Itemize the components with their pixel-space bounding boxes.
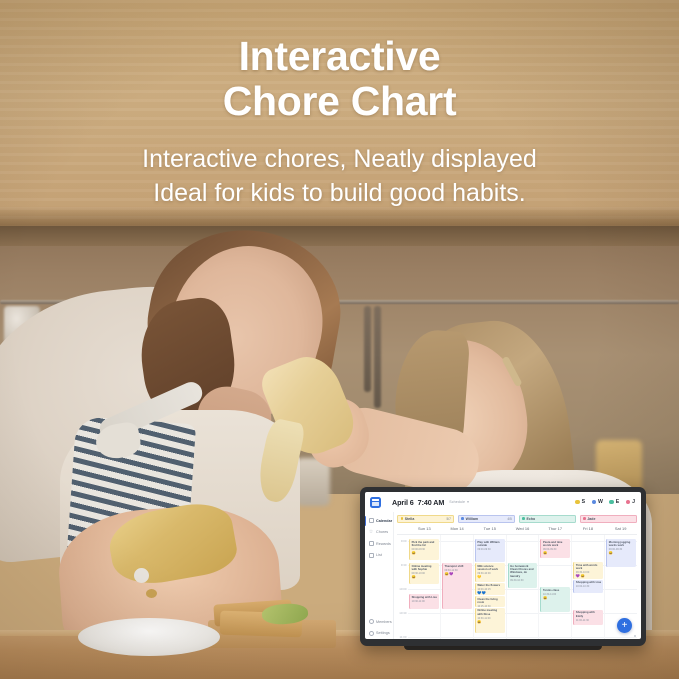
time-label: 11:00 xyxy=(399,635,406,639)
time-label: 9:00 xyxy=(401,539,407,543)
time-label: 10:30 xyxy=(399,611,406,615)
event-title: Pasta and time words work xyxy=(543,541,569,548)
event-emoji: 💙💙 xyxy=(477,592,503,595)
sidebar-item-label: Rewards xyxy=(376,542,391,546)
event-emoji: 💜😀 xyxy=(576,575,602,578)
day-header-row: Sun 13Mon 14Tue 15Wed 16Thur 17Fri 18Sat… xyxy=(397,523,637,534)
member-chip-j[interactable]: J xyxy=(626,499,635,505)
ring xyxy=(146,589,157,598)
calendar-event[interactable]: Therapist shift09:30-11:30😀💜 xyxy=(442,563,472,609)
calendar-app-icon[interactable] xyxy=(370,497,381,508)
member-initial: E xyxy=(616,499,619,505)
calendar-event[interactable]: Shopping with Emily11:00-11:30 xyxy=(573,610,603,626)
member-name: Stella xyxy=(405,517,415,521)
event-emoji: 😀 xyxy=(543,552,569,555)
event-title: Therapist shift xyxy=(444,565,470,568)
scroll-indicator[interactable] xyxy=(634,635,636,637)
sidebar-item-label: Calendar xyxy=(376,519,392,523)
member-color-dot xyxy=(626,500,631,505)
headline: Interactive Chore Chart xyxy=(0,36,679,123)
sidebar-item-list[interactable]: List xyxy=(365,550,393,562)
gift-icon xyxy=(369,541,374,546)
member-column-william[interactable]: William4/5 xyxy=(458,515,515,524)
calendar-event[interactable]: Pick the park and find the lid09:00-09:3… xyxy=(409,539,439,560)
calendar-event[interactable]: Play with William outside09:00-09:30 xyxy=(475,539,505,562)
calendar-event[interactable]: Online meeting with Sophie09:30-10:00😀 xyxy=(409,563,439,584)
sidebar-spacer xyxy=(365,561,393,616)
event-title: Pick the park and find the lid xyxy=(412,541,438,548)
calendar-event[interactable]: Clean the living room10:15-10:30 xyxy=(475,596,505,606)
calendar-event[interactable]: Online meeting with Rose10:30-11:00😀 xyxy=(475,608,505,633)
event-title: Milk science session of work xyxy=(477,565,503,572)
subheadline-line-1: Interactive chores, Neatly displayed xyxy=(0,142,679,176)
member-name: William xyxy=(466,517,479,521)
event-emoji: 💛 xyxy=(477,576,503,579)
day-column[interactable]: Therapist shift09:30-11:30😀💜 xyxy=(441,535,474,639)
member-chips: SWEJ xyxy=(575,499,635,505)
member-name: Jade xyxy=(587,517,595,521)
event-title: Play with William outside xyxy=(477,541,503,548)
member-color-dot xyxy=(609,500,614,505)
day-column[interactable]: Go homework Clean Chores and Windows, do… xyxy=(507,535,540,639)
member-column-echo[interactable]: Echo xyxy=(519,515,576,524)
day-header[interactable]: Thur 17 xyxy=(539,526,572,531)
sidebar-item-rewards[interactable]: Rewards xyxy=(365,538,393,550)
calendar-event[interactable]: Water the flowers10:00-10:15💙💙 xyxy=(475,583,505,595)
member-color-dot xyxy=(522,517,525,520)
tablet-device: April 6 7:40 AM Schedule ▾ SWEJ Calendar… xyxy=(360,487,646,646)
chevron-down-icon[interactable]: ▾ xyxy=(467,500,469,504)
event-emoji: 😀 xyxy=(412,576,438,579)
event-title: Shopping with Lisa xyxy=(576,581,602,584)
calendar-event[interactable]: Tennis class10:30-11:00😀 xyxy=(540,587,570,612)
member-initial: J xyxy=(632,499,635,505)
member-chip-w[interactable]: W xyxy=(592,499,603,505)
day-column[interactable]: Pick the park and find the lid09:00-09:3… xyxy=(408,535,441,639)
event-title: Shopping with Emily xyxy=(576,611,602,618)
sidebar-item-label: Settings xyxy=(376,631,390,635)
time-axis: 9:009:3010:0010:3011:00 xyxy=(397,535,408,639)
event-title: Morning jogging words work xyxy=(609,541,635,548)
subheadline: Interactive chores, Neatly displayed Ide… xyxy=(0,142,679,210)
day-header[interactable]: Sat 19 xyxy=(604,526,637,531)
event-title: Online meeting with Rose xyxy=(477,609,503,616)
member-columns-header: Stella5/7William4/5EchoJade xyxy=(397,515,637,524)
time-label: 9:30 xyxy=(401,563,407,567)
member-color-dot xyxy=(583,517,586,520)
member-name: Echo xyxy=(526,517,535,521)
day-header[interactable]: Wed 16 xyxy=(506,526,539,531)
day-column[interactable]: Pasta and time words work09:00-09:30😀Ten… xyxy=(539,535,572,639)
star-icon: ☆ xyxy=(369,530,374,535)
day-column[interactable]: Time with words work09:30-10:00💜😀Shoppin… xyxy=(572,535,605,639)
headline-line-1: Interactive xyxy=(0,36,679,78)
day-header[interactable]: Mon 14 xyxy=(441,526,474,531)
event-time: 11:00-11:30 xyxy=(576,619,602,622)
event-emoji: 😀 xyxy=(543,597,569,600)
member-initial: S xyxy=(582,499,585,505)
app-body: Calendar☆ChoresRewardsList MembersSettin… xyxy=(365,512,641,639)
event-title: Time with words work xyxy=(576,564,602,571)
calendar-event[interactable]: Shopping with Lisa10:00-10:30 xyxy=(573,580,603,594)
sidebar-item-label: Members xyxy=(376,620,392,624)
sidebar-item-label: Chores xyxy=(376,530,388,534)
calendar-grid-wrapper[interactable]: 9:009:3010:0010:3011:00 Pick the park an… xyxy=(397,534,637,639)
list-icon xyxy=(369,553,374,558)
calendar-icon xyxy=(369,518,374,523)
ring xyxy=(134,568,149,583)
member-column-stella[interactable]: Stella5/7 xyxy=(397,515,454,524)
header-date: April 6 xyxy=(392,498,414,507)
people-icon xyxy=(369,619,374,624)
sidebar-item-calendar[interactable]: Calendar xyxy=(365,515,393,527)
calendar-content: Stella5/7William4/5EchoJade Sun 13Mon 14… xyxy=(394,512,641,639)
sidebar-item-settings[interactable]: Settings xyxy=(365,628,393,640)
schedule-selector-label[interactable]: Schedule xyxy=(449,500,465,504)
day-header[interactable]: Sun 13 xyxy=(408,526,441,531)
cabinet-edge xyxy=(0,226,679,246)
member-task-count: 5/7 xyxy=(446,517,450,521)
calendar-event[interactable]: Milk science session of work09:30-10:00💛 xyxy=(475,563,505,582)
event-time: 10:15-10:30 xyxy=(477,605,503,606)
member-chip-s[interactable]: S xyxy=(575,499,585,505)
event-title: Go homework Clean Chores and Windows, do… xyxy=(510,565,536,579)
event-title: Shopping with Lisa xyxy=(412,596,438,599)
member-column-jade[interactable]: Jade xyxy=(580,515,637,524)
sidebar-item-label: List xyxy=(376,553,382,557)
calendar-event[interactable]: Shopping with Lisa10:30-11:00 xyxy=(409,594,439,609)
gear-icon xyxy=(369,631,374,636)
utensil xyxy=(364,306,371,392)
subheadline-line-2: Ideal for kids to build good habits. xyxy=(0,176,679,210)
sidebar-item-chores[interactable]: ☆Chores xyxy=(365,527,393,539)
white-plate xyxy=(78,618,220,656)
member-chip-e[interactable]: E xyxy=(609,499,619,505)
member-color-dot xyxy=(401,517,404,520)
event-emoji: 😀 xyxy=(609,552,635,555)
event-emoji: 😀 xyxy=(477,621,503,624)
day-header[interactable]: Tue 15 xyxy=(473,526,506,531)
member-color-dot xyxy=(575,500,580,505)
day-header[interactable]: Fri 18 xyxy=(572,526,605,531)
calendar-grid[interactable]: Pick the park and find the lid09:00-09:3… xyxy=(408,535,637,639)
sidebar-item-members[interactable]: Members xyxy=(365,616,393,628)
event-title: Water the flowers xyxy=(477,584,503,587)
calendar-event[interactable]: Morning jogging words work09:00-09:30😀 xyxy=(606,539,636,567)
calendar-event[interactable]: Go homework Clean Chores and Windows, do… xyxy=(508,563,538,588)
tablet-screen: April 6 7:40 AM Schedule ▾ SWEJ Calendar… xyxy=(365,492,641,639)
calendar-event[interactable]: Time with words work09:30-10:00💜😀 xyxy=(573,562,603,579)
event-emoji: 😀💜 xyxy=(444,573,470,576)
event-title: Clean the living room xyxy=(477,598,503,605)
event-time: 09:00-09:30 xyxy=(477,548,503,551)
event-title: Tennis class xyxy=(543,589,569,592)
event-emoji: 😀 xyxy=(412,552,438,555)
event-time: 10:30-11:00 xyxy=(412,600,438,603)
utensil xyxy=(374,306,381,408)
calendar-event[interactable]: Pasta and time words work09:00-09:30😀 xyxy=(540,539,570,558)
sidebar: Calendar☆ChoresRewardsList MembersSettin… xyxy=(365,512,394,639)
member-color-dot xyxy=(592,500,597,505)
day-column[interactable]: Play with William outside09:00-09:30Milk… xyxy=(474,535,507,639)
promo-banner: Interactive Chore Chart Interactive chor… xyxy=(0,0,679,679)
header-time: 7:40 AM xyxy=(418,498,445,507)
member-task-count: 4/5 xyxy=(507,517,511,521)
headline-line-2: Chore Chart xyxy=(0,81,679,123)
member-initial: W xyxy=(598,499,603,505)
event-title: Online meeting with Sophie xyxy=(412,565,438,572)
app-header: April 6 7:40 AM Schedule ▾ SWEJ xyxy=(365,492,641,512)
event-time: 09:30-10:30 xyxy=(510,579,536,582)
member-color-dot xyxy=(461,517,464,520)
add-event-button[interactable]: + xyxy=(617,618,632,633)
event-time: 10:00-10:30 xyxy=(576,585,602,588)
time-label: 10:00 xyxy=(399,587,406,591)
